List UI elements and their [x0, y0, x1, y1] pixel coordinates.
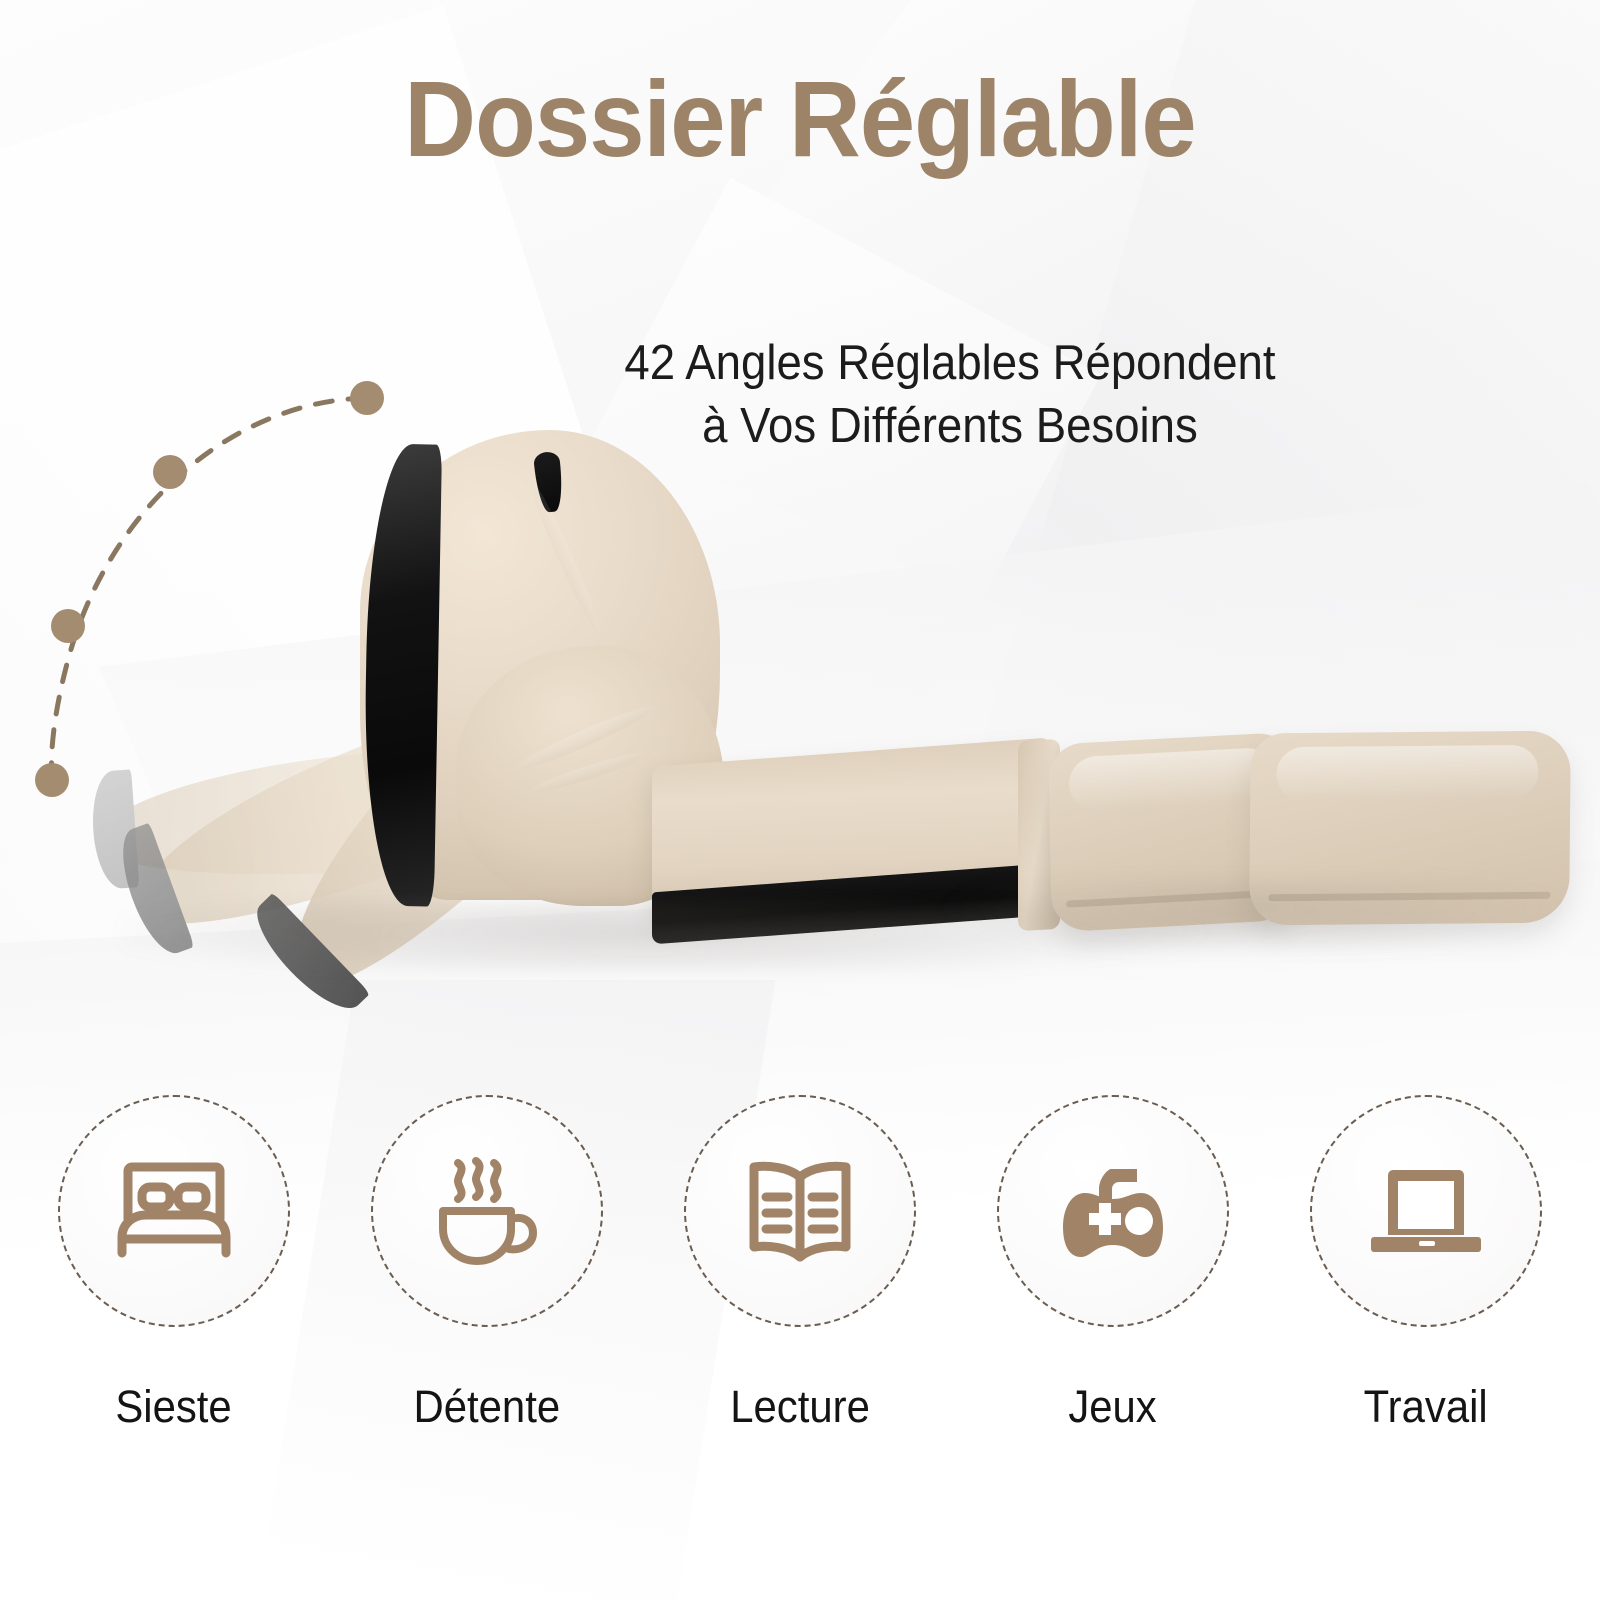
icon-bubble: [371, 1095, 603, 1327]
use-case-travail: Travail: [1288, 1095, 1564, 1433]
backrest-black-trim: [362, 443, 442, 906]
use-case-label: Jeux: [1069, 1381, 1157, 1433]
icon-bubble: [1310, 1095, 1542, 1327]
use-case-sieste: Sieste: [36, 1095, 312, 1433]
use-case-lecture: Lecture: [662, 1095, 938, 1433]
marketing-banner: Dossier Réglable 42 Angles Réglables Rép…: [0, 0, 1600, 1600]
page-title: Dossier Réglable: [64, 56, 1536, 181]
use-case-label: Travail: [1364, 1381, 1488, 1433]
gamepad-icon: [1043, 1141, 1183, 1281]
use-case-row: Sieste Détente: [0, 1095, 1600, 1433]
coffee-cup-icon: [417, 1141, 557, 1281]
use-case-label: Détente: [414, 1381, 561, 1433]
use-case-label: Sieste: [116, 1381, 232, 1433]
use-case-label: Lecture: [730, 1381, 870, 1433]
icon-bubble: [997, 1095, 1229, 1327]
laptop-icon: [1356, 1141, 1496, 1281]
use-case-detente: Détente: [349, 1095, 625, 1433]
product-shadow: [900, 880, 1600, 950]
icon-bubble: [58, 1095, 290, 1327]
bed-icon: [104, 1141, 244, 1281]
icon-bubble: [684, 1095, 916, 1327]
subtitle-line-1: 42 Angles Réglables Répondent: [504, 332, 1397, 395]
open-book-icon: [730, 1141, 870, 1281]
use-case-jeux: Jeux: [975, 1095, 1251, 1433]
